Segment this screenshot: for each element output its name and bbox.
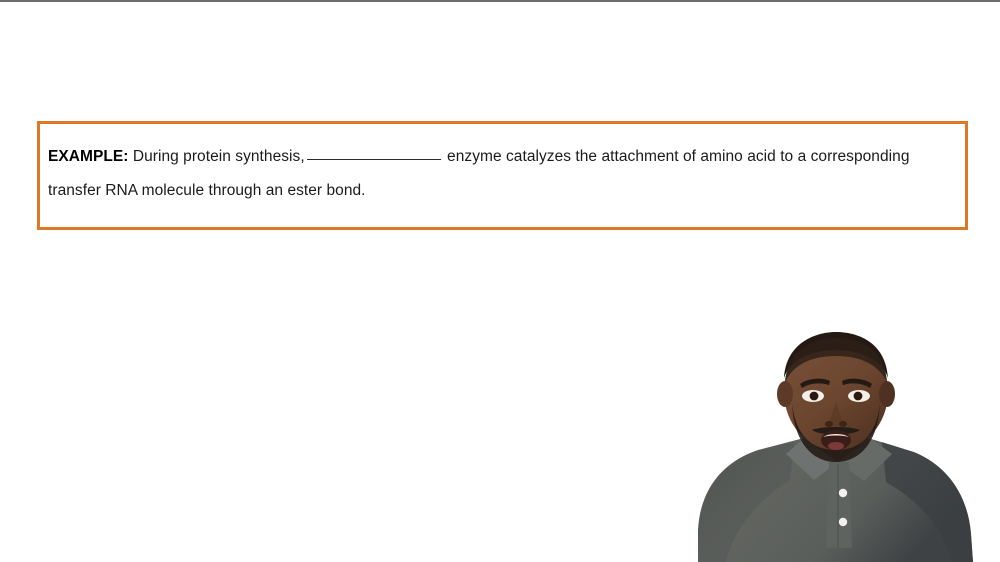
slide-canvas: EXAMPLE: During protein synthesis, enzym…	[0, 0, 1000, 562]
nostril-left	[825, 421, 833, 427]
nostril-right	[839, 421, 847, 427]
shirt-button-bottom	[839, 518, 847, 526]
iris-left	[810, 392, 819, 401]
shirt-placket	[826, 462, 852, 548]
ear-right	[879, 381, 895, 407]
shirt-button-top	[839, 489, 847, 497]
top-edge-rule	[0, 0, 1000, 2]
example-sentence-part-1: During protein synthesis,	[129, 148, 305, 165]
presenter-illustration	[686, 330, 986, 562]
example-callout-box: EXAMPLE: During protein synthesis, enzym…	[37, 121, 968, 230]
tongue	[828, 442, 844, 450]
ear-left	[777, 381, 793, 407]
example-label: EXAMPLE:	[48, 148, 129, 165]
iris-right	[854, 392, 863, 401]
presenter-video-overlay[interactable]	[686, 330, 986, 562]
fill-in-blank[interactable]	[307, 159, 441, 160]
example-text-block: EXAMPLE: During protein synthesis, enzym…	[48, 140, 955, 208]
